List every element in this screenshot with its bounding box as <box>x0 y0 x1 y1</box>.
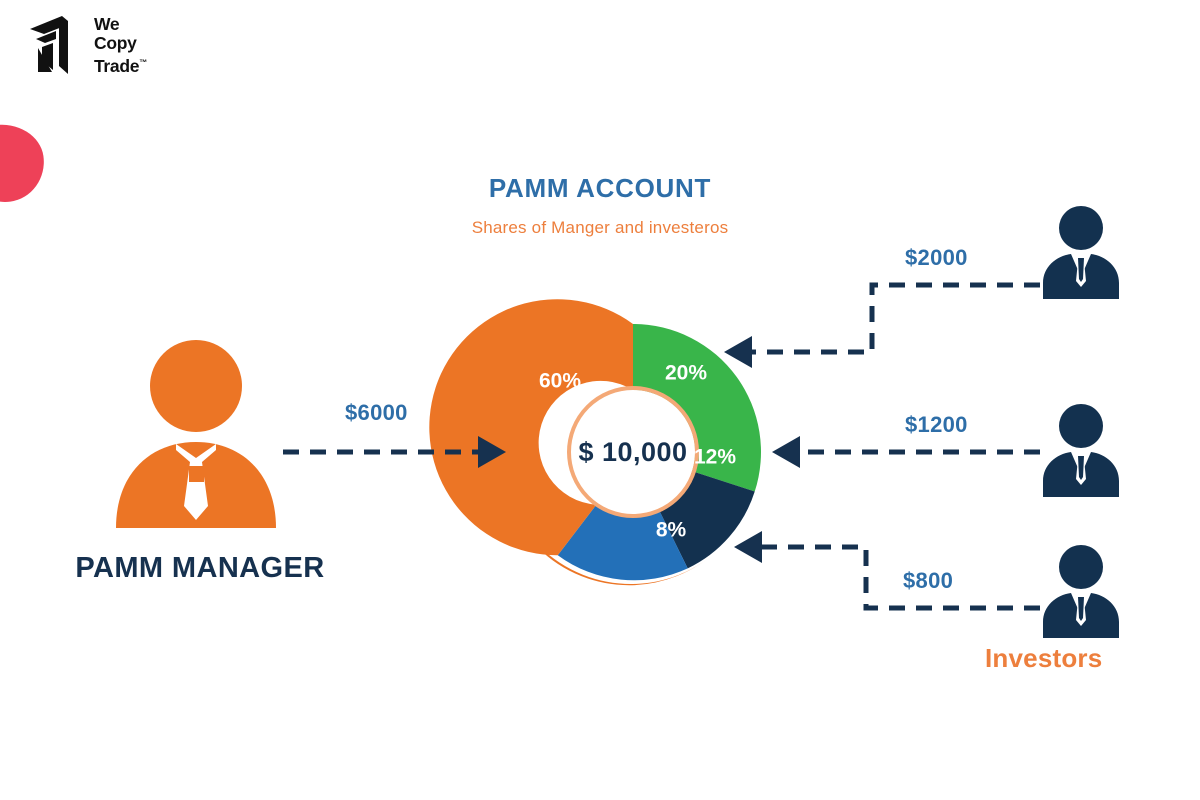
flow-investor3-to-account <box>734 531 1040 608</box>
investor3-amount-label: $800 <box>903 568 953 594</box>
manager-amount-label: $6000 <box>345 400 408 426</box>
infographic-canvas: WeCopyTrade™ PAMM ACCOUNT Shares of Mang… <box>0 0 1200 800</box>
flow-manager-to-account <box>283 436 506 468</box>
investor2-amount-label: $1200 <box>905 412 968 438</box>
money-flow-arrows <box>0 0 1200 800</box>
flow-investor2-to-account <box>772 436 1040 468</box>
flow-investor1-to-account <box>724 285 1040 368</box>
investor1-amount-label: $2000 <box>905 245 968 271</box>
